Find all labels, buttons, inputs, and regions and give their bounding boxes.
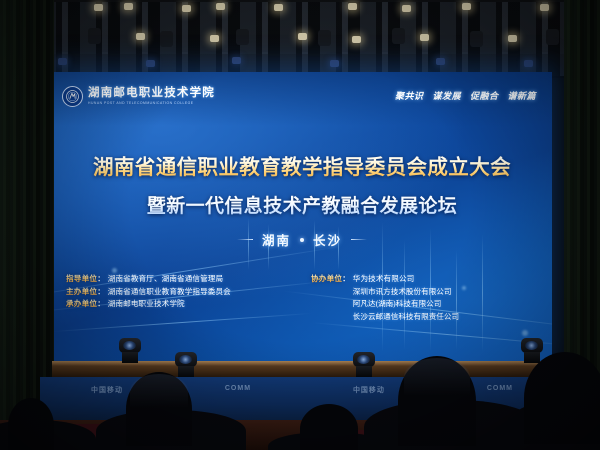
moving-head-light-icon <box>174 352 198 378</box>
decorative-dash-right <box>351 239 367 241</box>
stage-lamp-icon <box>124 3 133 10</box>
credit-label: 承办单位 <box>66 299 97 309</box>
credit-row: 协办单位 ： 阿凡达(湖南)科技有限公司 <box>311 299 538 309</box>
led-stage-screen: 湖南邮电职业技术学院 HUNAN POST AND TELECOMMUNICAT… <box>52 72 552 361</box>
stage-lamp-icon <box>274 4 283 11</box>
conference-hall-photo: 湖南邮电职业技术学院 HUNAN POST AND TELECOMMUNICAT… <box>0 0 600 450</box>
institution-name-cn: 湖南邮电职业技术学院 <box>88 88 215 100</box>
stage-lamp-icon <box>420 34 429 41</box>
credit-row: 协办单位 ： 深圳市讯方技术股份有限公司 <box>311 287 538 297</box>
credit-value: 湖南邮电职业技术学院 <box>108 299 185 309</box>
credits-block: 指导单位 ： 湖南省教育厅、湖南省通信管理局 主办单位 ： 湖南省通信职业教育教… <box>66 274 538 324</box>
moving-head-light-icon <box>352 352 376 378</box>
audience-silhouettes <box>300 404 358 450</box>
moving-head-light-icon <box>118 338 142 364</box>
credit-value: 华为技术有限公司 <box>353 274 415 284</box>
stage-lamp-icon <box>182 5 191 12</box>
credit-row: 指导单位 ： 湖南省教育厅、湖南省通信管理局 <box>66 274 293 284</box>
slogan-item-1: 聚共识 <box>395 89 424 102</box>
stage-lamp-icon <box>462 3 471 10</box>
skirt-mark: 中国移动 <box>353 385 385 395</box>
credit-row: 主办单位 ： 湖南省通信职业教育教学指导委员会 <box>66 287 293 297</box>
credits-right-column: 协办单位 ： 华为技术有限公司 协办单位 ： 深圳市讯方技术股份有限公司 协办单… <box>311 274 538 324</box>
location-separator-dot <box>300 238 304 242</box>
credit-value: 阿凡达(湖南)科技有限公司 <box>353 299 442 309</box>
credit-row: 承办单位 ： 湖南邮电职业技术学院 <box>66 299 293 309</box>
credit-colon: ： <box>342 274 350 284</box>
location-province: 湖南 <box>262 230 291 249</box>
credit-value: 长沙云邮通信科技有限责任公司 <box>353 312 459 322</box>
institution-name-en: HUNAN POST AND TELECOMMUNICATION COLLEGE <box>88 101 215 105</box>
credits-left-column: 指导单位 ： 湖南省教育厅、湖南省通信管理局 主办单位 ： 湖南省通信职业教育教… <box>66 274 293 324</box>
slogan-item-2: 谋发展 <box>432 89 461 102</box>
credit-colon: ： <box>97 274 105 284</box>
stage-lamp-icon <box>136 33 145 40</box>
stage-lamp-icon <box>298 33 307 40</box>
credit-colon: ： <box>97 299 105 309</box>
credit-row: 协办单位 ： 长沙云邮通信科技有限责任公司 <box>311 312 538 322</box>
banner-title-line2: 暨新一代信息技术产教融合发展论坛 <box>52 191 552 218</box>
banner-title-line1: 湖南省通信职业教育教学指导委员会成立大会 <box>52 150 552 180</box>
audience-silhouettes <box>524 352 600 444</box>
credit-label: 协办单位 <box>311 274 342 284</box>
credit-row: 协办单位 ： 华为技术有限公司 <box>311 274 538 284</box>
credit-value: 湖南省通信职业教育教学指导委员会 <box>108 287 231 297</box>
institution-header: 湖南邮电职业技术学院 HUNAN POST AND TELECOMMUNICAT… <box>62 86 215 107</box>
slogan-item-3: 促融合 <box>470 89 499 102</box>
university-crest-icon <box>62 86 83 107</box>
credit-label: 主办单位 <box>66 287 97 297</box>
skirt-mark: COMM <box>487 385 513 395</box>
credit-label: 指导单位 <box>66 274 97 284</box>
stage-lamp-icon <box>402 5 411 12</box>
location-line: 湖南 长沙 <box>52 230 552 249</box>
ceiling-lighting-rig <box>0 0 600 78</box>
lighting-truss-icon <box>0 2 600 28</box>
credit-colon: ： <box>97 287 105 297</box>
slogan-item-4: 谱新篇 <box>507 89 536 102</box>
stage-lamp-icon <box>352 36 361 43</box>
stage-lamp-icon <box>94 4 103 11</box>
stage-lamp-icon <box>540 4 549 11</box>
audience-silhouettes <box>8 398 54 450</box>
credit-value: 湖南省教育厅、湖南省通信管理局 <box>108 274 223 284</box>
stage-lamp-icon <box>216 3 225 10</box>
skirt-mark: 中国移动 <box>91 385 123 395</box>
location-city: 长沙 <box>313 230 342 249</box>
credit-value: 深圳市讯方技术股份有限公司 <box>353 287 452 297</box>
decorative-dash-left <box>237 239 253 241</box>
stage-skirt-marks: 中国移动 COMM 中国移动 COMM <box>40 385 564 395</box>
skirt-mark: COMM <box>225 385 251 395</box>
stage-lamp-icon <box>508 35 517 42</box>
slogan-group: 聚共识 谋发展 促融合 谱新篇 <box>395 89 536 102</box>
stage-lamp-icon <box>348 3 357 10</box>
stage-lamp-icon <box>210 35 219 42</box>
